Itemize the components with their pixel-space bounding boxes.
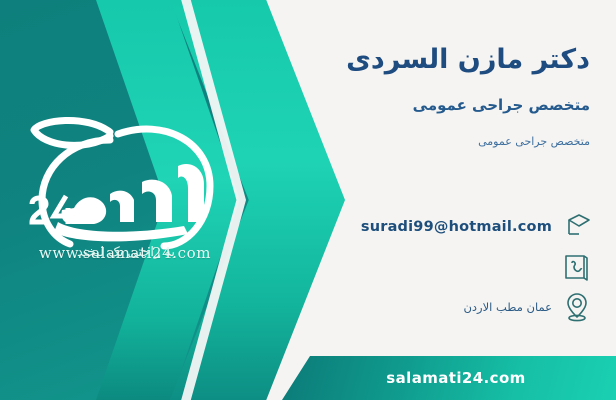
specialty-primary: متخصص جراحی عمومی xyxy=(413,96,590,114)
phone-book-icon xyxy=(562,252,592,282)
brand-logo: به راحتی یک لبخند www.salamati24.com xyxy=(14,96,244,296)
contact-row-address[interactable]: عمان مطب الاردن xyxy=(463,292,592,322)
contact-row-phone[interactable] xyxy=(552,252,592,282)
business-card: به راحتی یک لبخند www.salamati24.com دکت… xyxy=(0,0,616,400)
specialty-secondary: متخصص جراحی عمومی xyxy=(478,135,590,148)
footer-website[interactable]: salamati24.com xyxy=(386,369,525,387)
address-value: عمان مطب الاردن xyxy=(463,300,552,314)
badge-24 xyxy=(32,196,72,224)
contact-row-email[interactable]: suradi99@hotmail.com xyxy=(361,212,592,242)
footer-banner: salamati24.com xyxy=(282,356,616,400)
location-pin-icon xyxy=(562,292,592,322)
logo-website-url: www.salamati24.com xyxy=(14,244,236,262)
envelope-icon xyxy=(562,212,592,242)
apple-outline-icon: به راحتی یک لبخند xyxy=(14,96,244,261)
doctor-name: دکتر مازن السردی xyxy=(346,44,590,75)
brand-script-calligraphy xyxy=(54,164,204,241)
email-value: suradi99@hotmail.com xyxy=(361,219,552,235)
